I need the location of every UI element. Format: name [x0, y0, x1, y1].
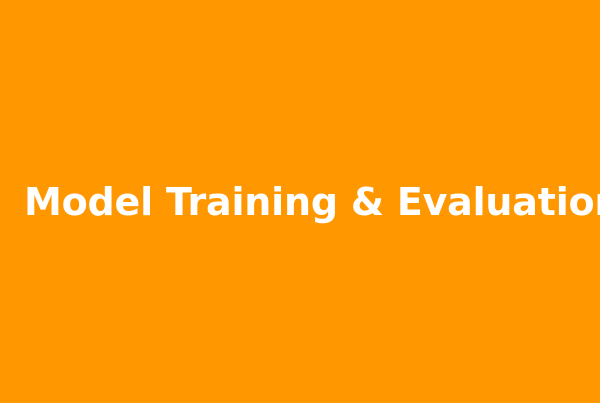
title-slide: Model Training & Evaluation	[0, 0, 600, 403]
slide-title: Model Training & Evaluation	[24, 180, 576, 224]
title-block: Model Training & Evaluation	[0, 180, 600, 224]
